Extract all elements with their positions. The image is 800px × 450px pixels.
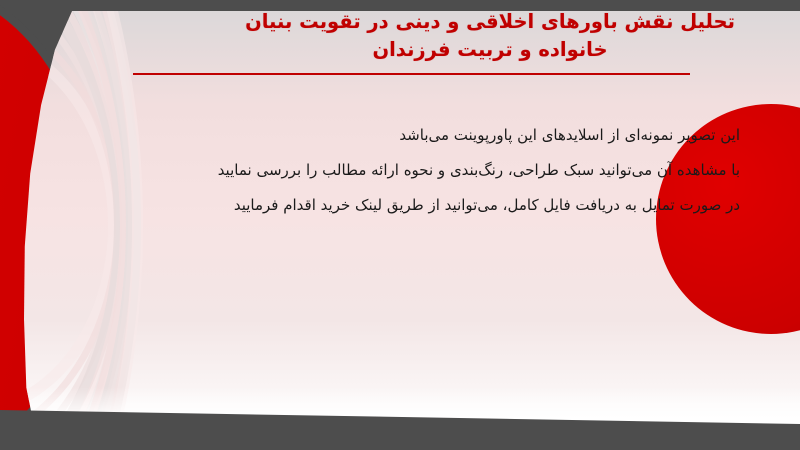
body-line-3: در صورت تمایل به دریافت فایل کامل، می‌تو… — [110, 188, 740, 223]
title-line-2: خانواده و تربیت فرزندان — [200, 36, 780, 64]
page-title: تحلیل نقش باورهای اخلاقی و دینی در تقویت… — [110, 8, 800, 65]
red-horizontal-rule — [133, 73, 690, 75]
title-line-1: تحلیل نقش باورهای اخلاقی و دینی در تقویت… — [200, 8, 780, 36]
body-line-2: با مشاهده آن می‌توانید سبک طراحی، رنگ‌بن… — [110, 153, 740, 188]
body-text-block: این تصویر نمونه‌ای از اسلایدهای این پاور… — [110, 118, 740, 223]
body-line-1: این تصویر نمونه‌ای از اسلایدهای این پاور… — [110, 118, 740, 153]
presentation-slide: تحلیل نقش باورهای اخلاقی و دینی در تقویت… — [0, 0, 800, 450]
